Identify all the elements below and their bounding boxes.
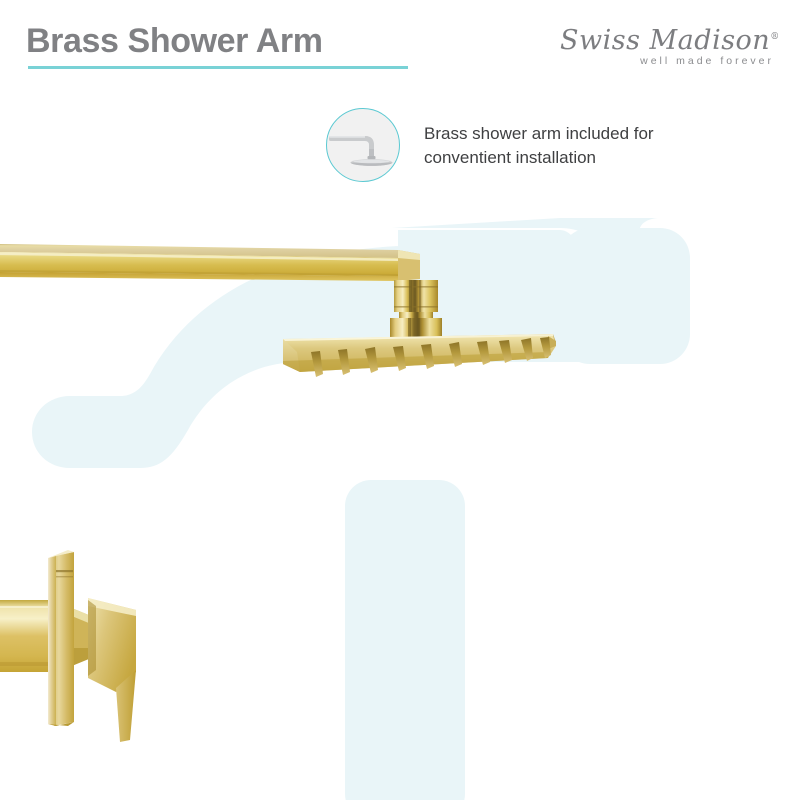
feature-text-line-2: conventient installation <box>424 148 596 167</box>
valve-lever-handle <box>88 598 136 742</box>
valve-body <box>0 600 70 672</box>
square-showerhead <box>283 334 556 377</box>
shower-arm <box>0 244 420 281</box>
brand-logo: Swiss Madison® well made forever <box>560 22 778 78</box>
showerhead-nozzles <box>311 337 551 377</box>
valve-trim-plate <box>48 550 74 726</box>
valve-trim <box>0 550 136 742</box>
brand-name: Swiss Madison® <box>560 22 778 56</box>
registered-trademark-icon: ® <box>770 32 780 42</box>
title-underline-rule <box>28 66 408 69</box>
page-title: Brass Shower Arm <box>26 19 323 63</box>
feature-callout: Brass shower arm included for conventien… <box>326 108 726 188</box>
feature-text: Brass shower arm included for conventien… <box>424 122 724 170</box>
product-marketing-image: Brass Shower Arm Swiss Madison® well mad… <box>0 0 800 800</box>
swivel-joint <box>384 280 448 352</box>
shower-arm-icon <box>326 108 400 182</box>
feature-text-line-1: Brass shower arm included for <box>424 124 654 143</box>
brand-name-text: Swiss Madison <box>560 25 770 56</box>
brand-tagline: well made forever <box>560 55 774 67</box>
valve-cone <box>62 604 96 670</box>
